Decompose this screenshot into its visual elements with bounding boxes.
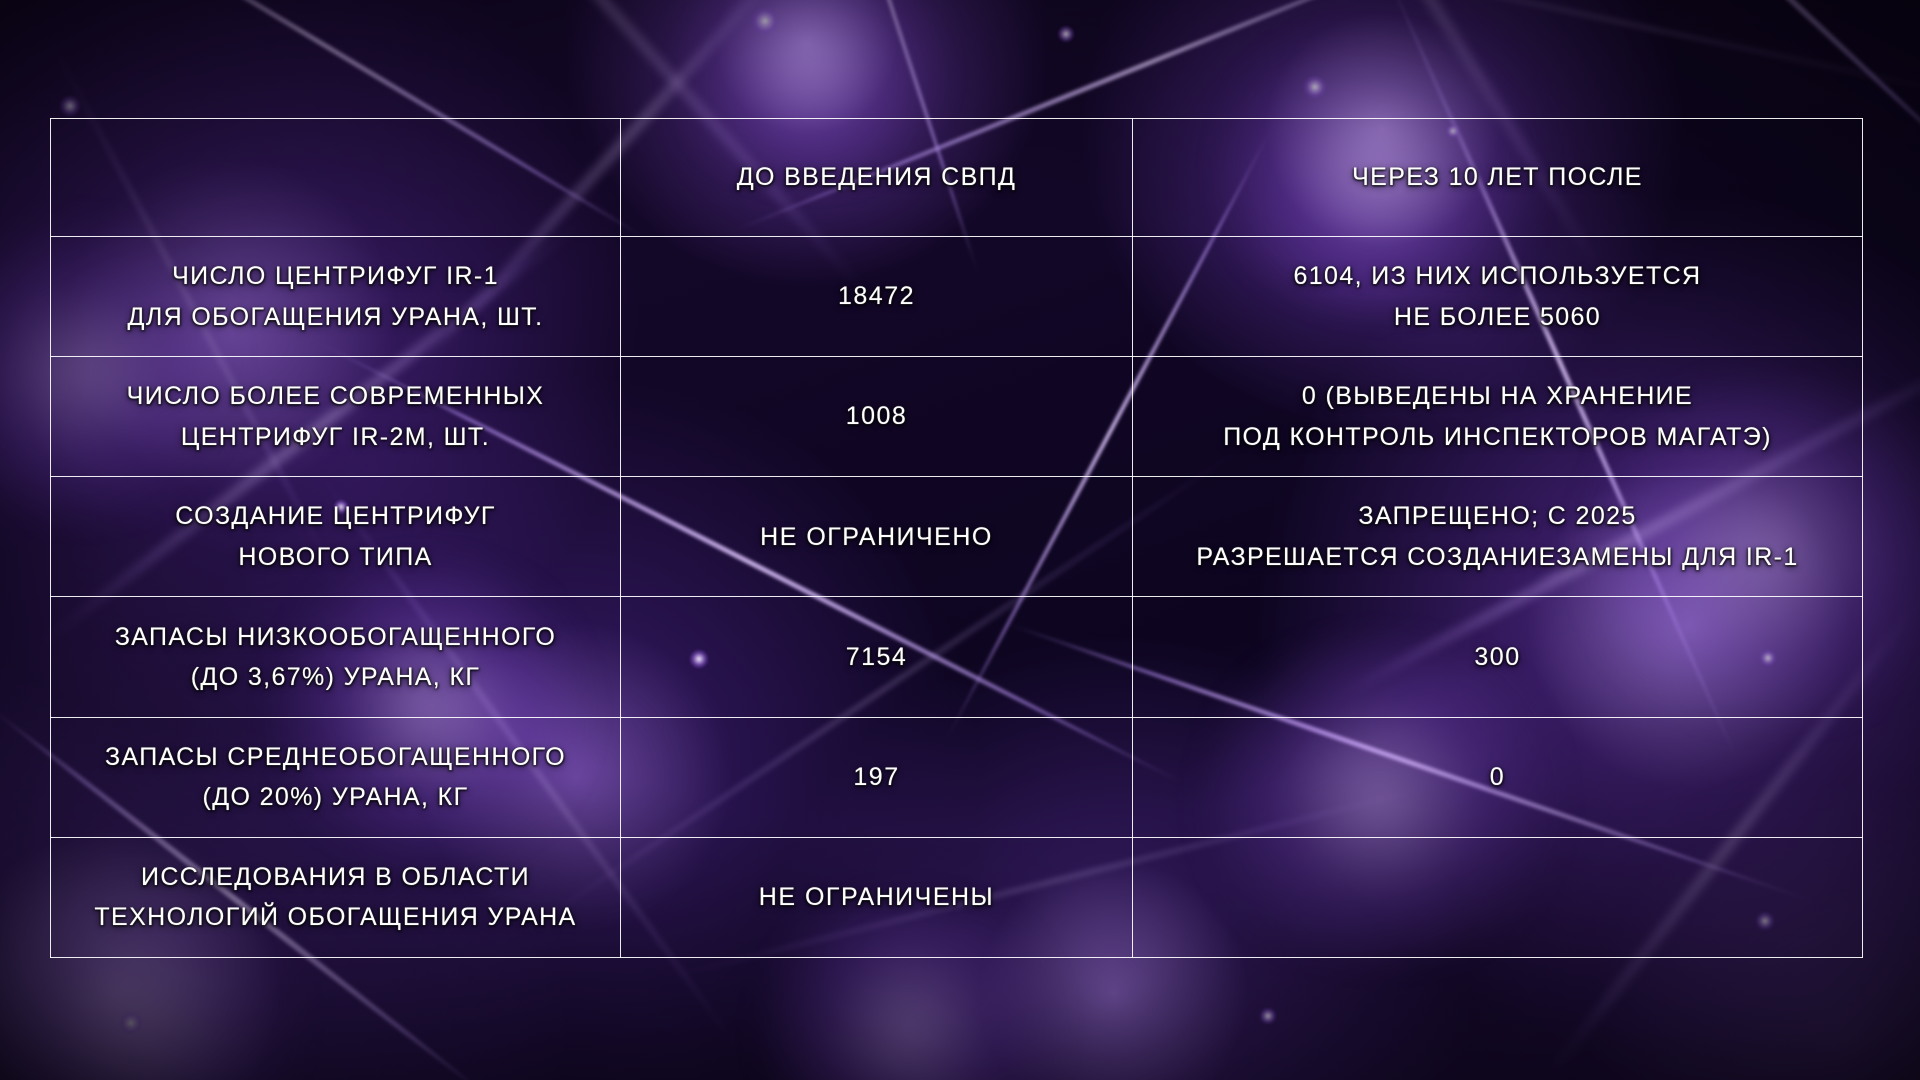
cell-before: НЕ ОГРАНИЧЕНО [621,477,1133,597]
comparison-table: ДО ВВЕДЕНИЯ СВПД ЧЕРЕЗ 10 ЛЕТ ПОСЛЕ ЧИСЛ… [50,118,1863,958]
slide-canvas: ДО ВВЕДЕНИЯ СВПД ЧЕРЕЗ 10 ЛЕТ ПОСЛЕ ЧИСЛ… [0,0,1920,1080]
table-row: ЗАПАСЫ СРЕДНЕОБОГАЩЕННОГО (ДО 20%) УРАНА… [51,717,1863,837]
header-cell-before: ДО ВВЕДЕНИЯ СВПД [621,119,1133,237]
cell-after: 0 [1133,717,1863,837]
cell-after: 0 (ВЫВЕДЕНЫ НА ХРАНЕНИЕ ПОД КОНТРОЛЬ ИНС… [1133,357,1863,477]
cell-after: ЗАПРЕЩЕНО; С 2025 РАЗРЕШАЕТСЯ СОЗДАНИЕЗА… [1133,477,1863,597]
cell-after [1133,837,1863,957]
table-row: ЧИСЛО БОЛЕЕ СОВРЕМЕННЫХ ЦЕНТРИФУГ IR-2M,… [51,357,1863,477]
cell-before: НЕ ОГРАНИЧЕНЫ [621,837,1133,957]
header-cell-metric [51,119,621,237]
header-cell-after: ЧЕРЕЗ 10 ЛЕТ ПОСЛЕ [1133,119,1863,237]
cell-before: 18472 [621,237,1133,357]
cell-before: 197 [621,717,1133,837]
cell-after: 300 [1133,597,1863,717]
table-header-row: ДО ВВЕДЕНИЯ СВПД ЧЕРЕЗ 10 ЛЕТ ПОСЛЕ [51,119,1863,237]
cell-after: 6104, ИЗ НИХ ИСПОЛЬЗУЕТСЯ НЕ БОЛЕЕ 5060 [1133,237,1863,357]
cell-before: 7154 [621,597,1133,717]
cell-metric: СОЗДАНИЕ ЦЕНТРИФУГ НОВОГО ТИПА [51,477,621,597]
comparison-table-container: ДО ВВЕДЕНИЯ СВПД ЧЕРЕЗ 10 ЛЕТ ПОСЛЕ ЧИСЛ… [50,118,1862,958]
table-row: ЗАПАСЫ НИЗКООБОГАЩЕННОГО (ДО 3,67%) УРАН… [51,597,1863,717]
cell-metric: ЗАПАСЫ НИЗКООБОГАЩЕННОГО (ДО 3,67%) УРАН… [51,597,621,717]
table-row: ЧИСЛО ЦЕНТРИФУГ IR-1 ДЛЯ ОБОГАЩЕНИЯ УРАН… [51,237,1863,357]
cell-before: 1008 [621,357,1133,477]
table-row: ИССЛЕДОВАНИЯ В ОБЛАСТИ ТЕХНОЛОГИЙ ОБОГАЩ… [51,837,1863,957]
cell-metric: ЧИСЛО БОЛЕЕ СОВРЕМЕННЫХ ЦЕНТРИФУГ IR-2M,… [51,357,621,477]
cell-metric: ЧИСЛО ЦЕНТРИФУГ IR-1 ДЛЯ ОБОГАЩЕНИЯ УРАН… [51,237,621,357]
cell-metric: ЗАПАСЫ СРЕДНЕОБОГАЩЕННОГО (ДО 20%) УРАНА… [51,717,621,837]
cell-metric: ИССЛЕДОВАНИЯ В ОБЛАСТИ ТЕХНОЛОГИЙ ОБОГАЩ… [51,837,621,957]
table-row: СОЗДАНИЕ ЦЕНТРИФУГ НОВОГО ТИПА НЕ ОГРАНИ… [51,477,1863,597]
